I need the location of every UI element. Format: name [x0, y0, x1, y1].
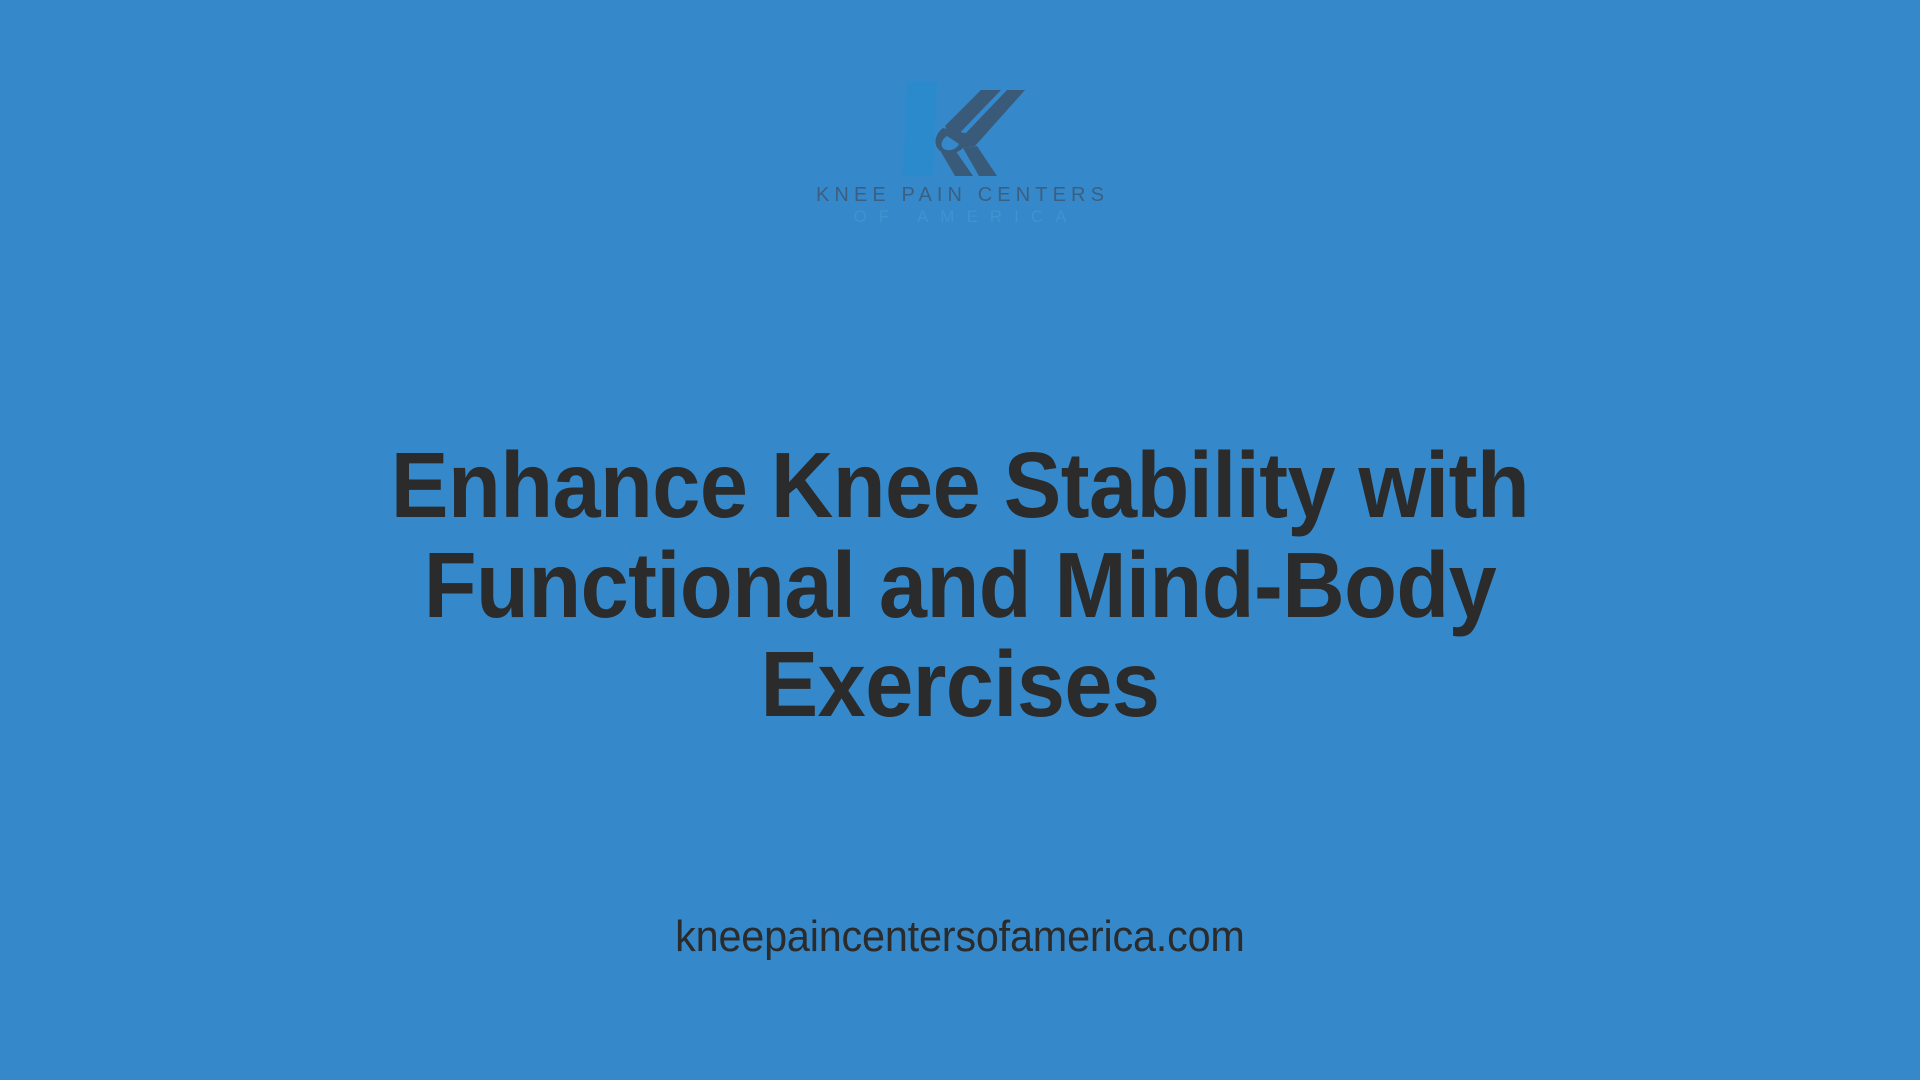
brand-lockup: KNEE PAIN CENTERS OF AMERICA [0, 78, 1920, 227]
headline-line-1: Enhance Knee Stability with [207, 436, 1714, 536]
brand-wordmark: KNEE PAIN CENTERS [811, 184, 1109, 206]
knee-joint-k-logo-icon [889, 78, 1031, 180]
footer: kneepaincentersofamerica.com [0, 912, 1920, 962]
social-share-card: KNEE PAIN CENTERS OF AMERICA Enhance Kne… [0, 0, 1920, 1080]
website-url[interactable]: kneepaincentersofamerica.com [675, 912, 1244, 962]
brand-subwordmark: OF AMERICA [842, 208, 1079, 227]
headline-line-3: Exercises [207, 635, 1714, 735]
headline-line-2: Functional and Mind-Body [207, 536, 1714, 636]
page-title: Enhance Knee Stability with Functional a… [0, 436, 1920, 735]
